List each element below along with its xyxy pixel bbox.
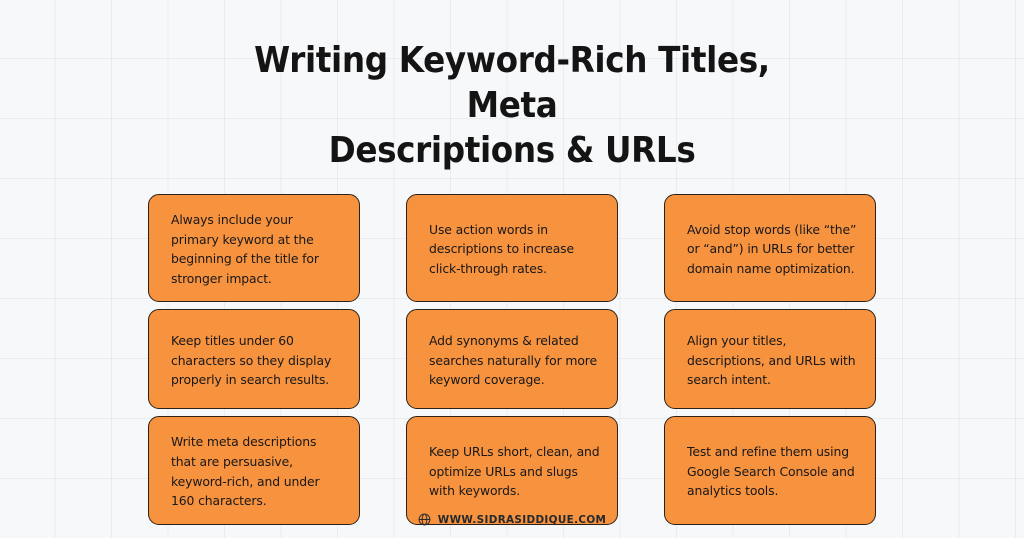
footer: WWW.SIDRASIDDIQUE.COM [0, 513, 1024, 526]
tip-card-1: Always include your primary keyword at t… [148, 194, 360, 302]
page-title: Writing Keyword-Rich Titles, Meta Descri… [218, 38, 807, 173]
tip-card-3-text: Write meta descriptions that are persuas… [171, 432, 343, 510]
tip-card-4-text: Use action words in descriptions to incr… [429, 220, 601, 279]
tip-card-9: Test and refine them using Google Search… [664, 416, 876, 524]
tip-card-7-text: Avoid stop words (like “the” or “and”) i… [687, 220, 859, 279]
tip-card-8-text: Align your titles, descriptions, and URL… [687, 331, 859, 390]
tip-card-6-text: Keep URLs short, clean, and optimize URL… [429, 442, 601, 501]
tip-card-4: Use action words in descriptions to incr… [406, 194, 618, 302]
tip-card-6: Keep URLs short, clean, and optimize URL… [406, 416, 618, 524]
globe-icon [418, 513, 431, 526]
tip-card-8: Align your titles, descriptions, and URL… [664, 309, 876, 409]
tip-card-1-text: Always include your primary keyword at t… [171, 210, 343, 288]
tip-card-5: Add synonyms & related searches naturall… [406, 309, 618, 409]
tip-card-3: Write meta descriptions that are persuas… [148, 416, 360, 524]
tip-card-grid: Always include your primary keyword at t… [147, 194, 877, 525]
tip-card-5-text: Add synonyms & related searches naturall… [429, 331, 601, 390]
tip-card-9-text: Test and refine them using Google Search… [687, 442, 859, 501]
infographic-page: Writing Keyword-Rich Titles, Meta Descri… [0, 0, 1024, 538]
title-block: Writing Keyword-Rich Titles, Meta Descri… [192, 38, 832, 173]
tip-card-7: Avoid stop words (like “the” or “and”) i… [664, 194, 876, 302]
footer-url: WWW.SIDRASIDDIQUE.COM [438, 514, 606, 526]
tip-card-2: Keep titles under 60 characters so they … [148, 309, 360, 409]
tip-card-2-text: Keep titles under 60 characters so they … [171, 331, 343, 390]
